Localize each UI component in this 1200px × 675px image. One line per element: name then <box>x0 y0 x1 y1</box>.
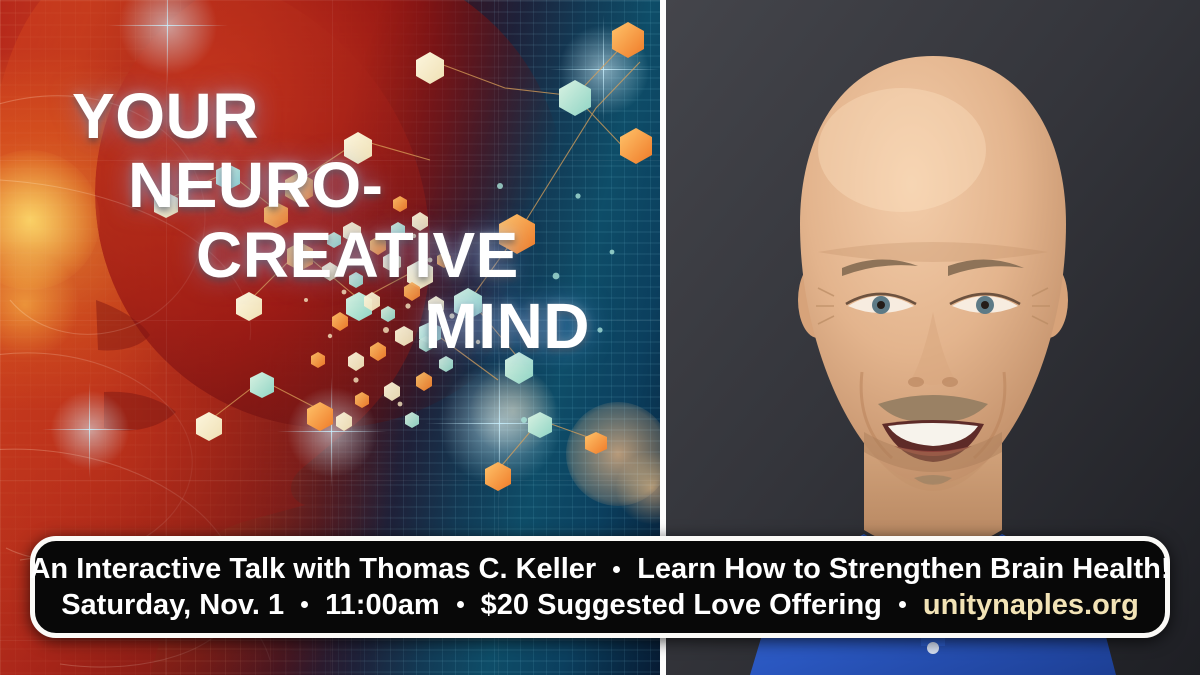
event-price: $20 Suggested Love Offering <box>481 590 882 621</box>
title-line-3: CREATIVE <box>0 225 628 286</box>
event-time: 11:00am <box>325 590 440 621</box>
banner-line-1: An Interactive Talk with Thomas C. Kelle… <box>29 554 1170 585</box>
banner-line-2: Saturday, Nov. 1 11:00am $20 Suggested L… <box>61 590 1139 621</box>
title-line-4: MIND <box>0 296 628 357</box>
bullet-separator-icon <box>899 601 906 608</box>
poster-title: YOUR NEURO- CREATIVE MIND <box>0 86 628 358</box>
event-website-link[interactable]: unitynaples.org <box>923 590 1139 621</box>
title-line-2: NEURO- <box>0 155 628 216</box>
bokeh-orb <box>470 368 556 454</box>
bullet-separator-icon <box>457 601 464 608</box>
talk-benefit: Learn How to Strengthen Brain Health! <box>637 554 1170 585</box>
event-poster: YOUR NEURO- CREATIVE MIND <box>0 0 1200 675</box>
event-details-banner: An Interactive Talk with Thomas C. Kelle… <box>30 536 1170 638</box>
event-date: Saturday, Nov. 1 <box>61 590 284 621</box>
bullet-separator-icon <box>613 566 620 573</box>
title-line-1: YOUR <box>0 86 628 147</box>
bullet-separator-icon <box>301 601 308 608</box>
talk-description: An Interactive Talk with Thomas C. Kelle… <box>29 554 596 585</box>
